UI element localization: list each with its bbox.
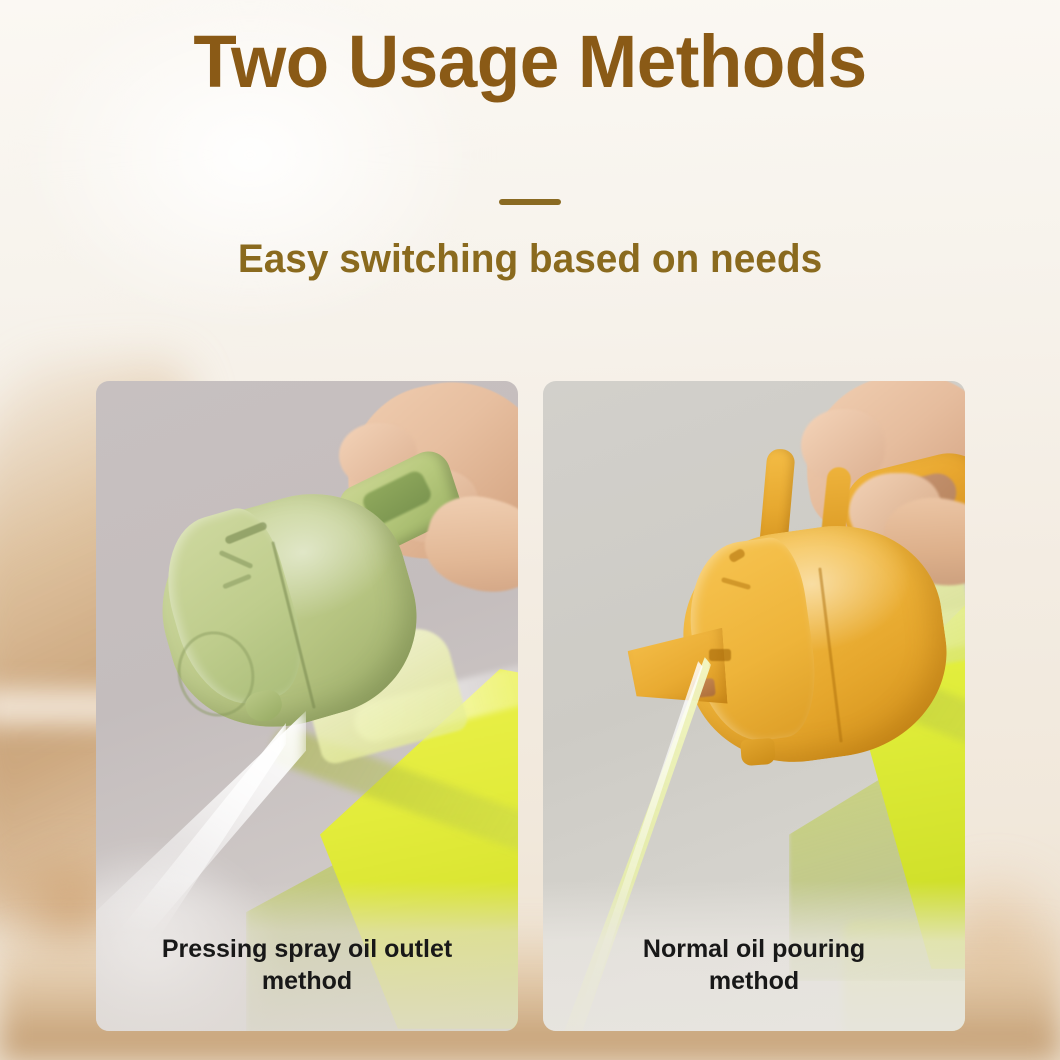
caption-pour-line-2: method <box>709 967 799 995</box>
page-title: Two Usage Methods <box>21 20 1039 104</box>
method-panel-spray[interactable]: Pressing spray oil outlet method <box>96 381 518 1031</box>
product-feature-page: Two Usage Methods Easy switching based o… <box>0 0 1060 1060</box>
title-divider <box>499 199 561 205</box>
caption-spray-line-2: method <box>262 967 352 995</box>
caption-spray-line-1: Pressing spray oil outlet <box>162 935 452 963</box>
pour-spout-flap-orange <box>626 628 727 711</box>
page-subtitle: Easy switching based on needs <box>16 233 1044 285</box>
pour-spout-slot <box>709 649 731 661</box>
pour-cap-nub-orange <box>740 738 776 766</box>
caption-spray-method: Pressing spray oil outlet method <box>96 933 518 997</box>
caption-pour-line-1: Normal oil pouring <box>643 935 865 963</box>
caption-pour-method: Normal oil pouring method <box>543 933 965 997</box>
method-panel-pour[interactable]: Normal oil pouring method <box>543 381 965 1031</box>
